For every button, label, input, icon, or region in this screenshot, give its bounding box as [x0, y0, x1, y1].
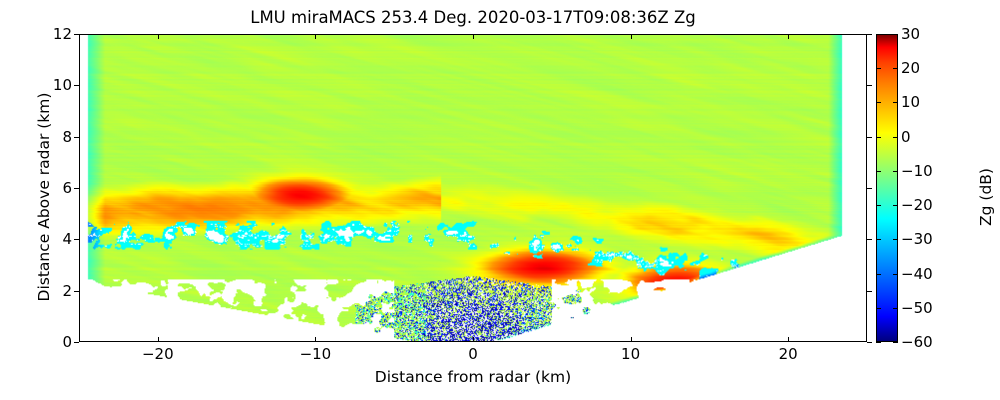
y-tick-right: [867, 34, 872, 35]
plot-axes: [79, 34, 867, 342]
colorbar-tick-inner: [876, 137, 881, 138]
y-tick: [74, 342, 79, 343]
colorbar-tick-label: −50: [901, 299, 933, 317]
x-tick-label: 20: [779, 345, 798, 363]
figure-title: LMU miraMACS 253.4 Deg. 2020-03-17T09:08…: [79, 8, 867, 27]
colorbar-tick: [893, 205, 898, 206]
y-axis-label: Distance Above radar (km): [35, 37, 53, 357]
y-tick: [74, 137, 79, 138]
y-tick-right: [867, 342, 872, 343]
x-tick-label: 0: [468, 345, 478, 363]
x-tick-label: −10: [300, 345, 332, 363]
colorbar-label: Zg (dB): [977, 97, 995, 297]
x-axis-label: Distance from radar (km): [79, 368, 867, 386]
x-tick-top: [315, 34, 316, 39]
radar-reflectivity-heatmap: [80, 35, 866, 341]
colorbar-tick: [893, 308, 898, 309]
colorbar-tick: [893, 102, 898, 103]
colorbar-tick-inner: [876, 205, 881, 206]
colorbar-tick: [893, 342, 898, 343]
colorbar-tick-inner: [876, 274, 881, 275]
radar-rhi-figure: LMU miraMACS 253.4 Deg. 2020-03-17T09:08…: [0, 0, 1000, 400]
colorbar-tick-label: −40: [901, 265, 933, 283]
y-tick-right: [867, 85, 872, 86]
x-tick: [158, 337, 159, 342]
colorbar-tick-inner: [876, 308, 881, 309]
colorbar-tick: [893, 274, 898, 275]
y-tick: [74, 85, 79, 86]
colorbar-tick: [893, 239, 898, 240]
colorbar-tick-inner: [876, 171, 881, 172]
x-tick: [473, 337, 474, 342]
colorbar-tick-label: 0: [901, 128, 911, 146]
x-tick-top: [158, 34, 159, 39]
colorbar-tick-label: −10: [901, 162, 933, 180]
colorbar-tick-inner: [876, 342, 881, 343]
x-tick-label: −20: [142, 345, 174, 363]
y-tick-right: [867, 239, 872, 240]
y-tick: [74, 188, 79, 189]
x-tick: [315, 337, 316, 342]
colorbar-tick-label: −20: [901, 196, 933, 214]
colorbar-tick-label: 10: [901, 93, 920, 111]
y-tick-right: [867, 188, 872, 189]
colorbar-tick: [893, 34, 898, 35]
y-tick: [74, 291, 79, 292]
y-tick-right: [867, 137, 872, 138]
colorbar: [876, 34, 898, 342]
colorbar-tick-inner: [876, 102, 881, 103]
colorbar-tick-inner: [876, 239, 881, 240]
colorbar-tick-label: −60: [901, 333, 933, 351]
x-tick: [631, 337, 632, 342]
x-tick-top: [631, 34, 632, 39]
x-tick-label: 10: [621, 345, 640, 363]
y-tick: [74, 239, 79, 240]
colorbar-tick: [893, 171, 898, 172]
colorbar-tick: [893, 68, 898, 69]
colorbar-tick-label: −30: [901, 230, 933, 248]
x-tick-top: [788, 34, 789, 39]
x-tick: [788, 337, 789, 342]
colorbar-tick-label: 20: [901, 59, 920, 77]
colorbar-tick-inner: [876, 34, 881, 35]
colorbar-tick-label: 30: [901, 25, 920, 43]
colorbar-tick-inner: [876, 68, 881, 69]
y-tick-right: [867, 291, 872, 292]
x-tick-top: [473, 34, 474, 39]
colorbar-tick: [893, 137, 898, 138]
y-tick: [74, 34, 79, 35]
